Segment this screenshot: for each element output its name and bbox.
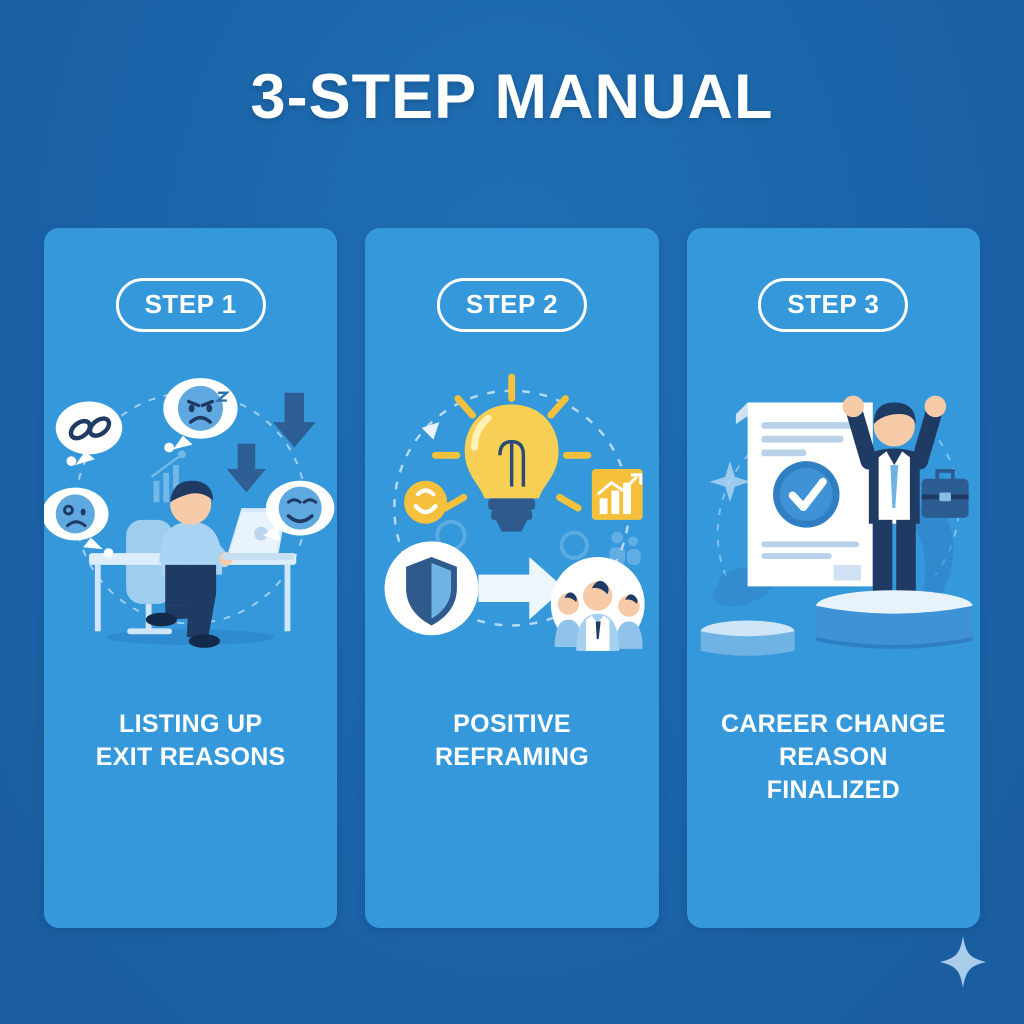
caption-line: POSITIVE <box>377 708 646 741</box>
caption-line: REASON <box>699 741 968 774</box>
angry-face-bubble <box>163 378 237 452</box>
briefcase-icon <box>921 471 968 518</box>
caption-line: EXIT REASONS <box>56 741 325 774</box>
caption-line: LISTING UP <box>56 708 325 741</box>
poster-canvas: 3-STEP MANUAL STEP 1 <box>0 0 1024 1024</box>
calm-face-bubble <box>263 481 334 542</box>
page-title: 3-STEP MANUAL <box>0 66 1024 129</box>
sad-face-icon <box>56 494 95 533</box>
illustration-step-3 <box>687 368 980 658</box>
caption-line: FINALIZED <box>699 774 968 807</box>
step-badge-1: STEP 1 <box>116 278 266 332</box>
caption-line: REFRAMING <box>377 741 646 774</box>
people-icon-faint <box>610 532 641 565</box>
illustration-step-1 <box>44 368 337 658</box>
caption-line: CAREER CHANGE <box>699 708 968 741</box>
step-caption-2: POSITIVE REFRAMING <box>365 708 658 774</box>
chain-link-bubble <box>56 402 122 467</box>
calm-face-icon <box>279 487 322 530</box>
down-arrow-icon-2 <box>227 444 266 493</box>
step-badge-3: STEP 3 <box>758 278 908 332</box>
down-arrow-icon <box>273 393 316 448</box>
step-card-2[interactable]: STEP 2 <box>365 228 658 928</box>
step-caption-3: CAREER CHANGE REASON FINALIZED <box>687 708 980 807</box>
smiley-badge-icon <box>404 481 447 524</box>
step-card-3[interactable]: STEP 3 <box>687 228 980 928</box>
step-caption-1: LISTING UP EXIT REASONS <box>44 708 337 774</box>
sparkle-icon <box>940 936 986 988</box>
shield-icon <box>385 541 479 635</box>
lightbulb-icon <box>465 404 559 531</box>
step-card-1[interactable]: STEP 1 <box>44 228 337 928</box>
angry-face-icon <box>178 386 223 431</box>
team-group-icon <box>551 557 645 651</box>
steps-container: STEP 1 <box>44 228 980 928</box>
sad-face-bubble <box>44 488 113 558</box>
step-badge-2: STEP 2 <box>437 278 587 332</box>
growth-chart-icon <box>592 469 643 520</box>
illustration-step-2 <box>365 368 658 658</box>
